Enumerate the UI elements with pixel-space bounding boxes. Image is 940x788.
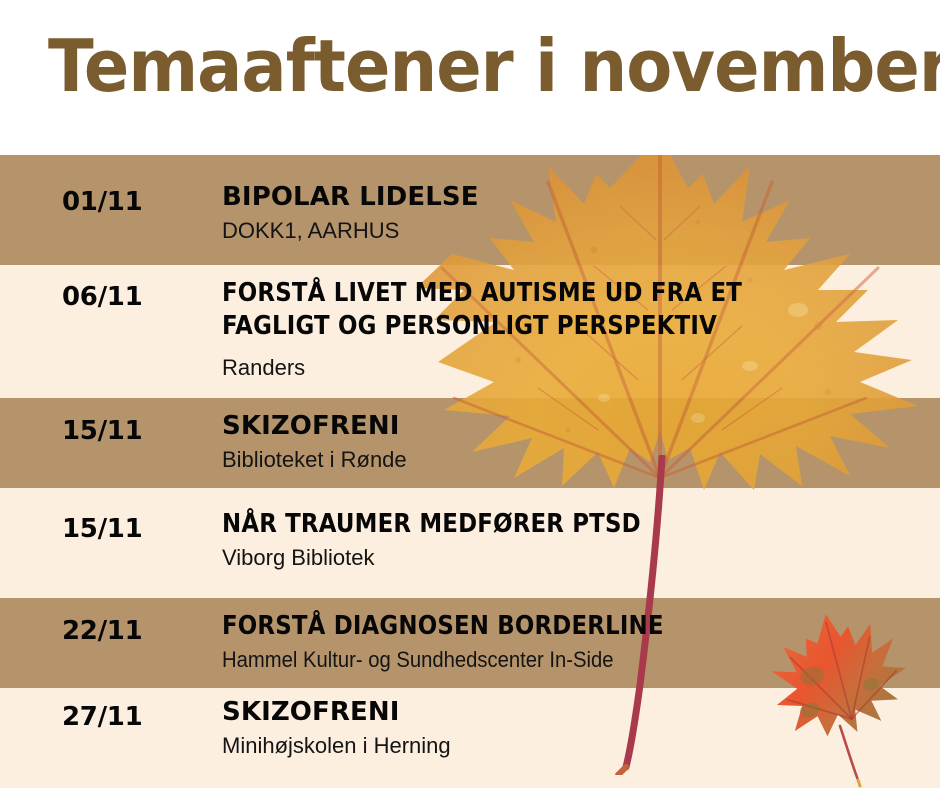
event-venue: Viborg Bibliotek bbox=[222, 544, 932, 573]
event-details: SKIZOFRENI Biblioteket i Rønde bbox=[222, 410, 932, 475]
event-date: 27/11 bbox=[62, 702, 142, 732]
event-date: 15/11 bbox=[62, 514, 142, 544]
event-date: 22/11 bbox=[62, 616, 142, 646]
event-row-1[interactable]: 01/11 BIPOLAR LIDELSE DOKK1, AARHUS bbox=[0, 155, 940, 265]
event-row-2[interactable]: 06/11 FORSTÅ LIVET MED AUTISME UD FRA ET… bbox=[0, 265, 940, 398]
event-venue: Biblioteket i Rønde bbox=[222, 446, 932, 475]
event-venue: DOKK1, AARHUS bbox=[222, 217, 932, 246]
page-title: Temaaftener i november bbox=[48, 26, 940, 107]
event-row-4[interactable]: 15/11 NÅR TRAUMER MEDFØRER PTSD Viborg B… bbox=[0, 488, 940, 598]
event-date: 06/11 bbox=[62, 282, 142, 312]
event-title: NÅR TRAUMER MEDFØRER PTSD bbox=[222, 508, 847, 541]
event-venue: Hammel Kultur- og Sundhedscenter In-Side bbox=[222, 646, 875, 675]
event-details: FORSTÅ LIVET MED AUTISME UD FRA ET FAGLI… bbox=[222, 277, 932, 382]
event-venue: Randers bbox=[222, 354, 932, 383]
event-date: 01/11 bbox=[62, 187, 142, 217]
event-title: FORSTÅ DIAGNOSEN BORDERLINE bbox=[222, 610, 847, 643]
event-title: BIPOLAR LIDELSE bbox=[222, 181, 932, 214]
poster-canvas: Temaaftener i november 01/11 BIPOLAR LID… bbox=[0, 0, 940, 788]
event-date: 15/11 bbox=[62, 416, 142, 446]
event-title: SKIZOFRENI bbox=[222, 410, 932, 443]
event-details: FORSTÅ DIAGNOSEN BORDERLINE Hammel Kultu… bbox=[222, 610, 932, 675]
event-row-6[interactable]: 27/11 SKIZOFRENI Minihøjskolen i Herning bbox=[0, 688, 940, 788]
poster-header: Temaaftener i november bbox=[0, 0, 940, 155]
event-details: SKIZOFRENI Minihøjskolen i Herning bbox=[222, 696, 932, 761]
event-row-5[interactable]: 22/11 FORSTÅ DIAGNOSEN BORDERLINE Hammel… bbox=[0, 598, 940, 688]
event-row-3[interactable]: 15/11 SKIZOFRENI Biblioteket i Rønde bbox=[0, 398, 940, 488]
event-details: NÅR TRAUMER MEDFØRER PTSD Viborg Bibliot… bbox=[222, 508, 932, 573]
event-title: FORSTÅ LIVET MED AUTISME UD FRA ET FAGLI… bbox=[222, 277, 847, 344]
event-details: BIPOLAR LIDELSE DOKK1, AARHUS bbox=[222, 181, 932, 246]
event-title: SKIZOFRENI bbox=[222, 696, 932, 729]
event-venue: Minihøjskolen i Herning bbox=[222, 732, 932, 761]
